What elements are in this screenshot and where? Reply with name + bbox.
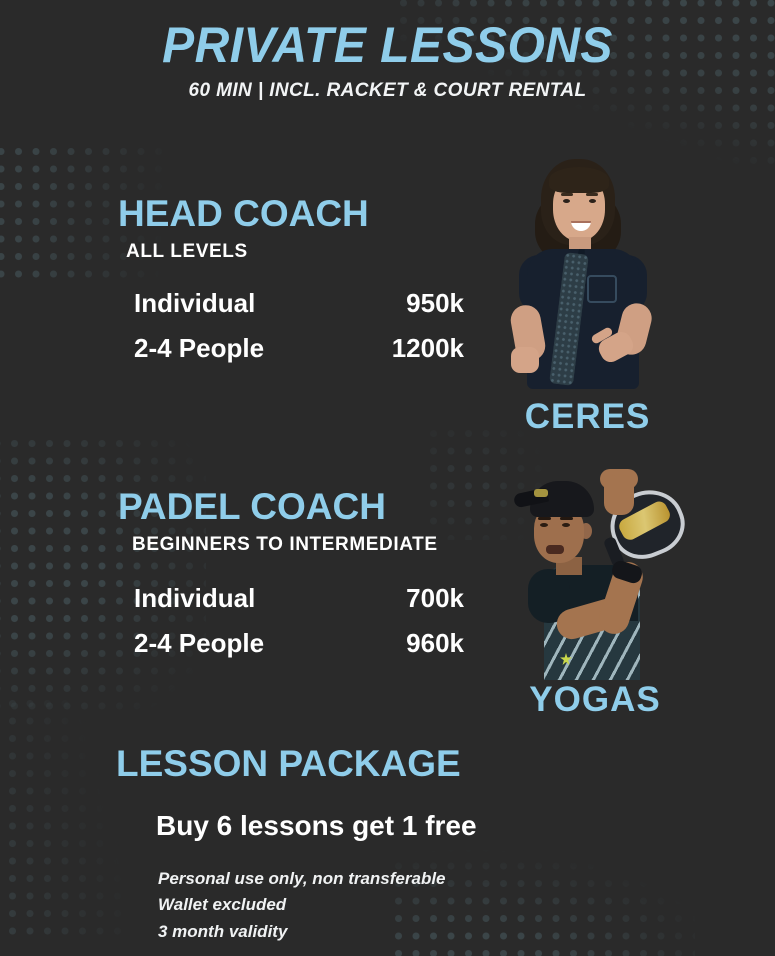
coach-card-yogas: YOGAS (500, 465, 690, 717)
pricing-poster: PRIVATE LESSONS 60 MIN | INCL. RACKET & … (0, 0, 775, 956)
price-label: Individual (134, 583, 369, 614)
package-term: Personal use only, non transferable (158, 866, 477, 892)
price-value: 950k (369, 288, 464, 319)
price-row: 2-4 People 960k (134, 628, 464, 659)
price-row: 2-4 People 1200k (134, 333, 464, 364)
coach-photo-yogas (500, 465, 690, 680)
dot-pattern-icon (0, 700, 124, 940)
price-value: 1200k (369, 333, 464, 364)
package-term: 3 month validity (158, 919, 477, 945)
price-value: 960k (369, 628, 464, 659)
section-title-head-coach: HEAD COACH (118, 195, 464, 232)
section-subtitle-padel-coach: BEGINNERS TO INTERMEDIATE (132, 534, 464, 556)
poster-header: PRIVATE LESSONS 60 MIN | INCL. RACKET & … (0, 20, 775, 102)
page-title: PRIVATE LESSONS (16, 20, 760, 70)
coach-card-ceres: CERES (495, 155, 680, 434)
price-row: Individual 950k (134, 288, 464, 319)
section-padel-coach: PADEL COACH BEGINNERS TO INTERMEDIATE In… (118, 488, 464, 659)
coach-name-yogas: YOGAS (500, 682, 690, 717)
package-term: Wallet excluded (158, 892, 477, 918)
coach-name-ceres: CERES (495, 399, 680, 434)
coach-photo-ceres (495, 155, 680, 395)
page-subtitle: 60 MIN | INCL. RACKET & COURT RENTAL (0, 80, 775, 102)
price-value: 700k (369, 583, 464, 614)
price-label: 2-4 People (134, 333, 369, 364)
package-offer: Buy 6 lessons get 1 free (156, 810, 477, 842)
section-title-lesson-package: LESSON PACKAGE (116, 745, 477, 782)
section-subtitle-head-coach: ALL LEVELS (126, 241, 464, 263)
section-lesson-package: LESSON PACKAGE Buy 6 lessons get 1 free … (116, 745, 477, 945)
price-label: Individual (134, 288, 369, 319)
package-terms: Personal use only, non transferable Wall… (158, 866, 477, 945)
price-row: Individual 700k (134, 583, 464, 614)
section-title-padel-coach: PADEL COACH (118, 488, 464, 525)
price-table-padel-coach: Individual 700k 2-4 People 960k (134, 583, 464, 659)
section-head-coach: HEAD COACH ALL LEVELS Individual 950k 2-… (118, 195, 464, 364)
price-table-head-coach: Individual 950k 2-4 People 1200k (134, 288, 464, 364)
price-label: 2-4 People (134, 628, 369, 659)
